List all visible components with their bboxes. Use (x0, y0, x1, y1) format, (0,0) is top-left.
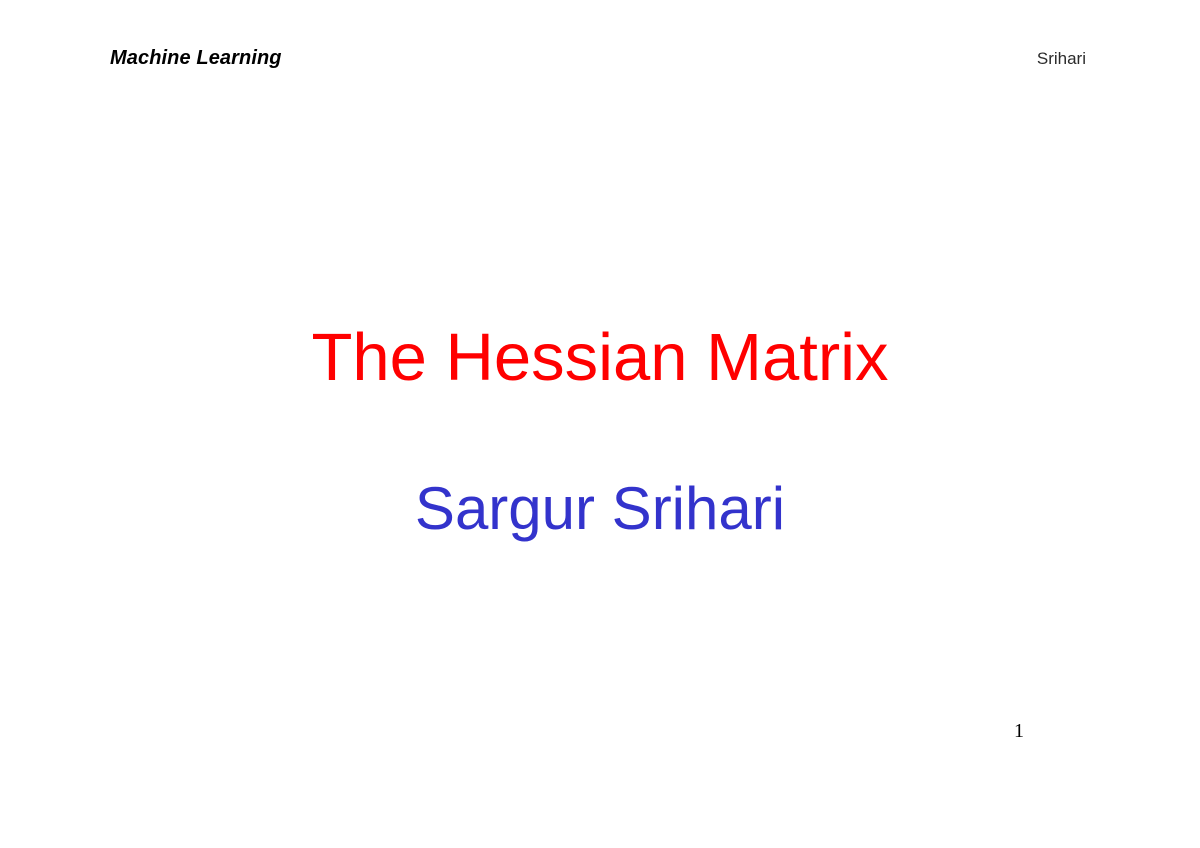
title-block: The Hessian Matrix Sargur Srihari (0, 322, 1200, 541)
header-author-label: Srihari (1037, 50, 1086, 67)
slide-canvas: Machine Learning Srihari The Hessian Mat… (0, 0, 1200, 848)
page-number: 1 (1014, 721, 1024, 741)
slide-header: Machine Learning Srihari (110, 48, 1086, 76)
header-course-label: Machine Learning (110, 48, 282, 68)
page-title: The Hessian Matrix (0, 322, 1200, 393)
presenter-name: Sargur Srihari (0, 393, 1200, 541)
